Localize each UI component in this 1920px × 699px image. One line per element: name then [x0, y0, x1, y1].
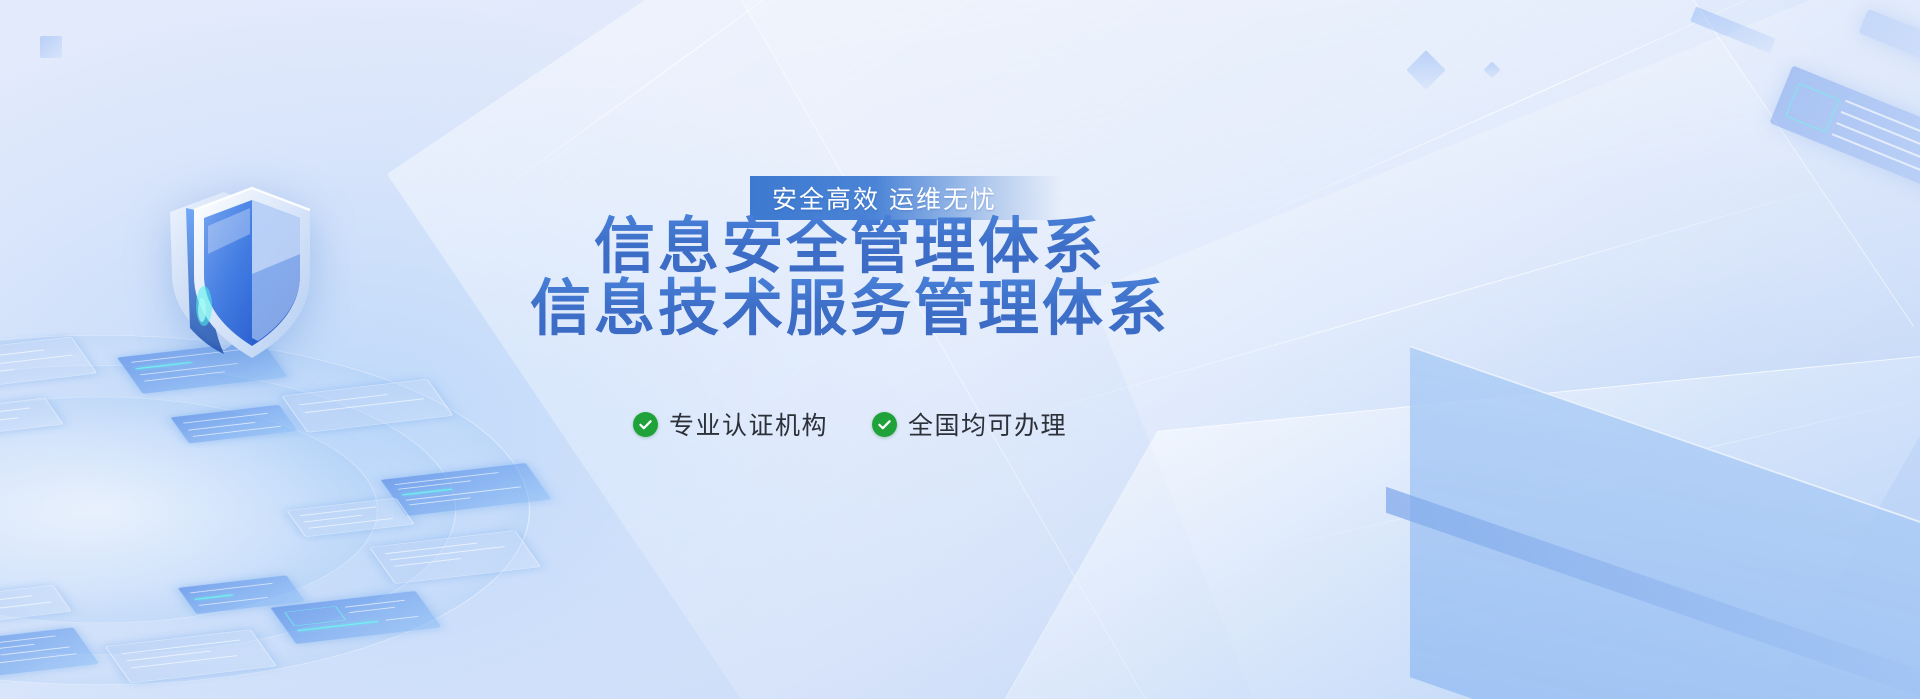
feature-label: 全国均可办理	[908, 406, 1067, 442]
glass-slab-top	[913, 351, 1920, 699]
background-facet-c	[1089, 0, 1920, 699]
decor-chip	[1484, 62, 1501, 79]
ring-panel	[0, 627, 99, 681]
glass-slab-front	[1410, 345, 1920, 699]
feature-item-1[interactable]: 全国均可办理	[872, 406, 1067, 442]
feature-list: 专业认证机构 全国均可办理	[0, 406, 1810, 442]
check-circle-icon	[633, 412, 658, 437]
hero-banner: 安全高效 运维无忧 信息安全管理体系 信息技术服务管理体系 专业认证机构	[0, 0, 1920, 699]
glass-slab-edge	[1386, 487, 1920, 699]
decor-chip	[40, 36, 62, 58]
decor-chip	[1406, 50, 1446, 90]
ring-panel-inner	[286, 498, 414, 537]
ring-panel	[380, 463, 552, 517]
ring-panel	[369, 530, 541, 584]
background-facet-b	[715, 0, 1920, 699]
ring-outline-2	[0, 331, 540, 689]
data-strip-graphic	[1769, 65, 1920, 216]
feature-item-0[interactable]: 专业认证机构	[633, 406, 828, 442]
check-circle-icon	[872, 412, 897, 437]
ring-glow	[0, 354, 483, 666]
decor-chip	[1690, 6, 1776, 53]
feature-label: 专业认证机构	[669, 406, 828, 442]
ring-panel	[105, 629, 277, 683]
background-hairline-2	[997, 176, 1862, 425]
data-strip-graphic	[1859, 9, 1920, 89]
ring-panel-inner	[0, 585, 72, 624]
ring-panel	[0, 337, 97, 391]
ring-panel	[269, 590, 441, 644]
background-facet-a	[387, 0, 1914, 699]
tagline-badge[interactable]: 安全高效 运维无忧	[750, 176, 1062, 220]
tagline-text: 安全高效 运维无忧	[750, 180, 997, 216]
background-hairline-1	[1210, 0, 1850, 239]
shield-icon	[146, 178, 332, 368]
ring-panel-inner	[177, 575, 305, 614]
